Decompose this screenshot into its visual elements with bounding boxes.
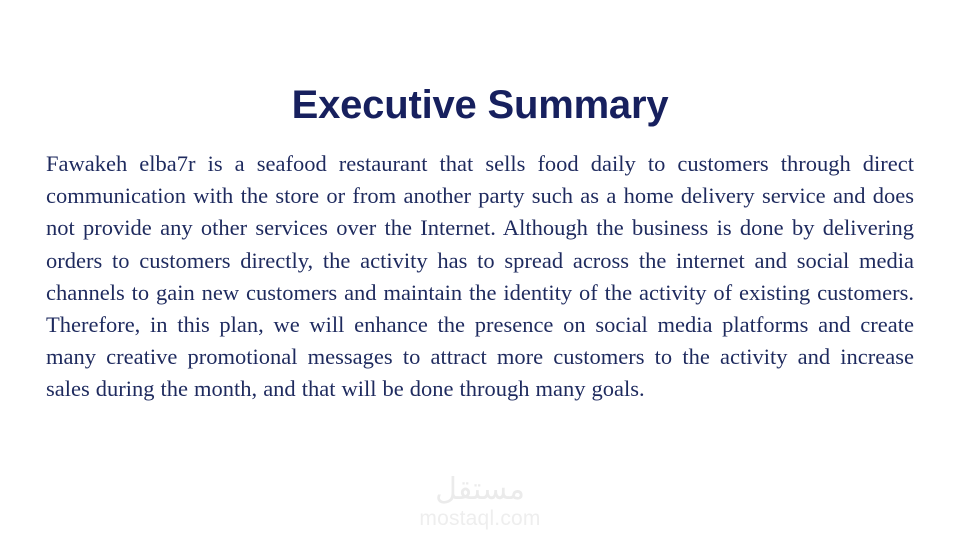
executive-summary-paragraph: Fawakeh elba7r is a seafood restaurant t… bbox=[46, 148, 914, 406]
mostaql-logo-icon: مستقل bbox=[0, 474, 960, 506]
watermark-domain-label: mostaql.com bbox=[0, 507, 960, 531]
body-text-block: Fawakeh elba7r is a seafood restaurant t… bbox=[46, 148, 914, 406]
slide-canvas: Executive Summary Fawakeh elba7r is a se… bbox=[0, 0, 960, 540]
watermark: مستقل mostaql.com bbox=[0, 474, 960, 531]
page-title: Executive Summary bbox=[0, 81, 960, 129]
